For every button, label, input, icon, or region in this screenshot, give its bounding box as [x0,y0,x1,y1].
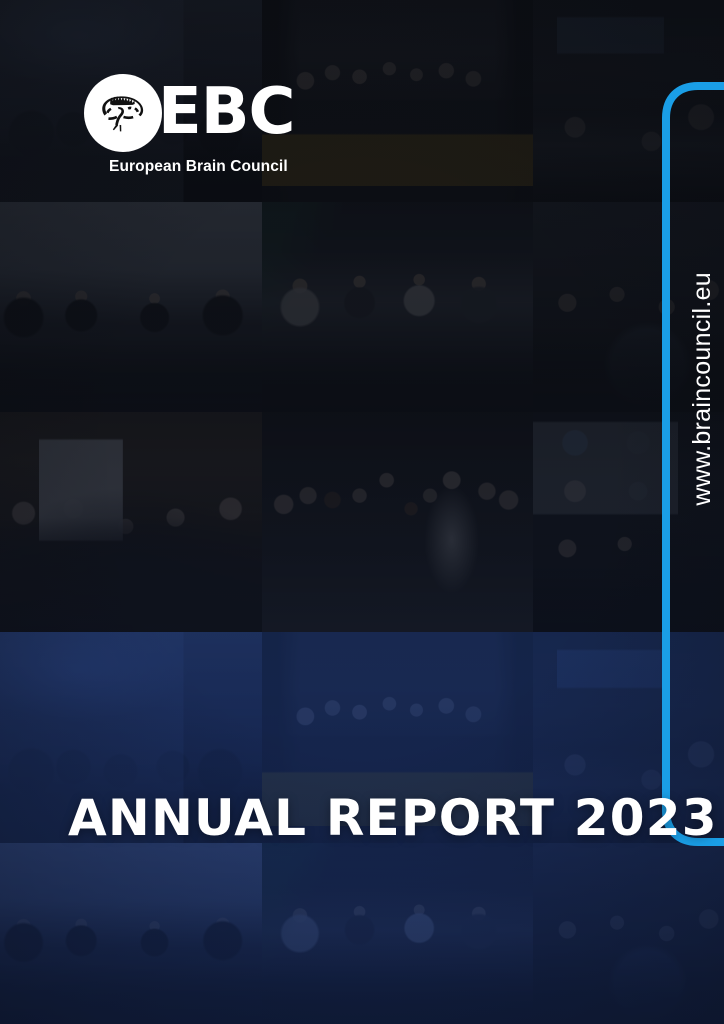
page-title: ANNUAL REPORT 2023 [68,789,718,847]
mosaic-cell-group-photo-ebc-banner [0,412,262,632]
mosaic-cell-audience-with-screens [533,0,724,202]
logo-wordmark: EBC [158,84,294,142]
mosaic-cell-team-group-photo [262,412,533,632]
mosaic-cell-group-photo-podium [262,0,533,202]
logo-row: EBC [84,74,294,152]
mosaic-cell-panel-discussion-stage [0,202,262,412]
mosaic-cell-panel-white-chairs [262,202,533,412]
website-url[interactable]: www.braincouncil.eu [690,272,715,602]
mosaic-cell-panel-white-chairs-blue [262,843,533,1024]
mosaic-cell-seated-audience-blue [533,843,724,1024]
logo-organisation-name: European Brain Council [109,158,288,176]
ebc-logo: EBC European Brain Council [84,74,294,176]
mosaic-cell-panel-discussion-stage-blue [0,843,262,1024]
annual-report-cover: EBC European Brain Council www.braincoun… [0,0,724,1024]
brain-icon [84,74,162,152]
website-url-text: www.braincouncil.eu [690,272,715,506]
